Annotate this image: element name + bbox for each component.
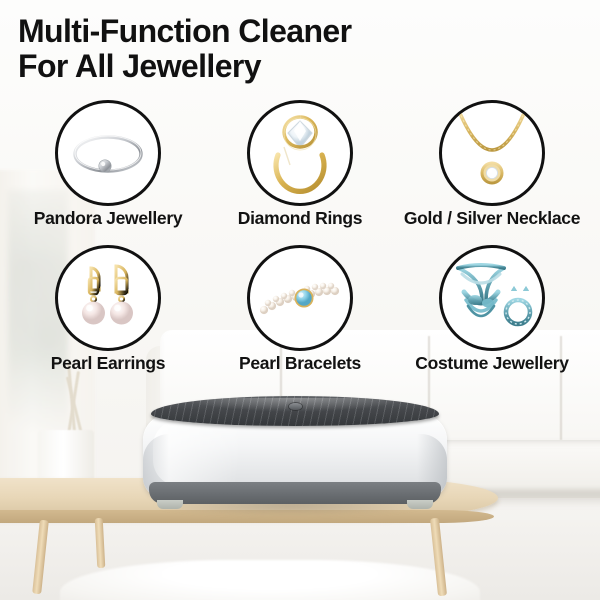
category-circle (439, 100, 545, 206)
power-button-icon[interactable] (289, 403, 302, 410)
body-highlight (153, 420, 273, 486)
headline-line-2: For All Jewellery (18, 49, 578, 84)
category-grid: Pandora Jewellery (0, 100, 600, 390)
category-circle (55, 245, 161, 351)
category-label: Gold / Silver Necklace (392, 208, 592, 229)
page-title: Multi-Function Cleaner For All Jewellery (18, 14, 578, 83)
category-label: Pandora Jewellery (8, 208, 208, 229)
category-label: Diamond Rings (200, 208, 400, 229)
category-row-2: Pearl Earrings (0, 245, 600, 390)
category-circle (247, 100, 353, 206)
cleaner-lid[interactable] (151, 396, 439, 426)
gold-pendant-necklace-icon (442, 103, 542, 203)
gold-diamond-ring-icon (250, 103, 350, 203)
category-circle (439, 245, 545, 351)
category-circle (55, 100, 161, 206)
silver-bangle-bracelet-icon (58, 103, 158, 203)
product-marketing-image: Multi-Function Cleaner For All Jewellery (0, 0, 600, 600)
category-label: Costume Jewellery (392, 353, 592, 374)
cleaner-base (149, 482, 441, 504)
headline-line-1: Multi-Function Cleaner (18, 13, 351, 49)
category-diamond-rings[interactable]: Diamond Rings (200, 100, 400, 229)
category-pearl-earrings[interactable]: Pearl Earrings (8, 245, 208, 374)
pearl-bracelet-aquamarine-icon (250, 248, 350, 348)
category-label: Pearl Bracelets (200, 353, 400, 374)
gold-pearl-drop-earrings-icon (58, 248, 158, 348)
category-gold-silver-necklace[interactable]: Gold / Silver Necklace (392, 100, 592, 229)
category-row-1: Pandora Jewellery (0, 100, 600, 245)
category-pearl-bracelets[interactable]: Pearl Bracelets (200, 245, 400, 374)
cleaner-foot (157, 500, 183, 509)
ultrasonic-jewellery-cleaner (143, 396, 447, 514)
teal-costume-jewellery-set-icon (442, 248, 542, 348)
category-costume-jewellery[interactable]: Costume Jewellery (392, 245, 592, 374)
category-pandora-jewellery[interactable]: Pandora Jewellery (8, 100, 208, 229)
cleaner-foot (407, 500, 433, 509)
category-circle (247, 245, 353, 351)
category-label: Pearl Earrings (8, 353, 208, 374)
